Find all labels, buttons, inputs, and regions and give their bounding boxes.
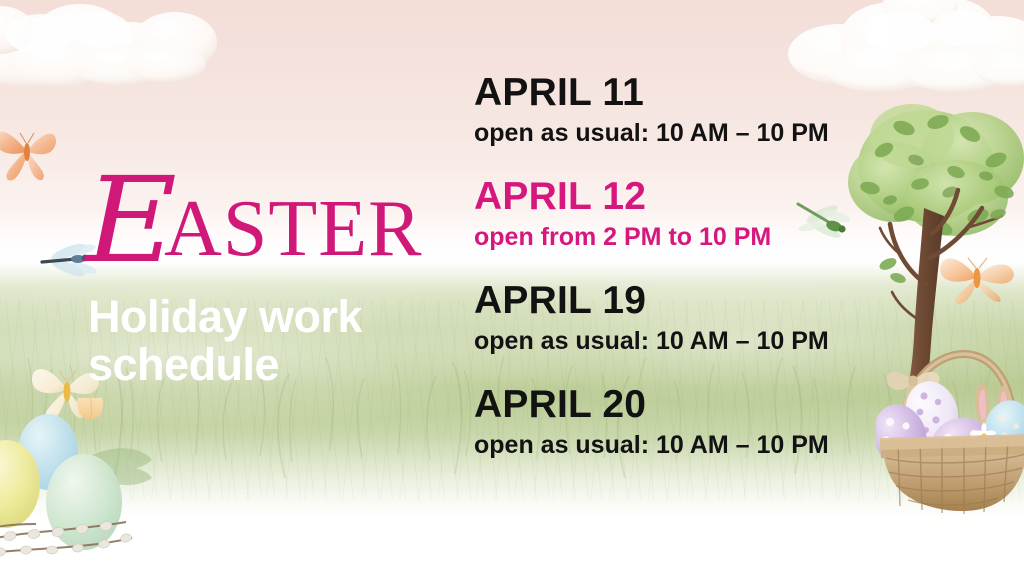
schedule-hours: open from 2 PM to 10 PM: [474, 221, 904, 255]
schedule-item-april-12: APRIL 12 open from 2 PM to 10 PM: [474, 176, 904, 255]
easter-headline: EASTER: [88, 168, 438, 269]
headline-block: EASTER Holiday work schedule: [88, 168, 438, 389]
schedule-list: APRIL 11 open as usual: 10 AM – 10 PM AP…: [474, 72, 904, 462]
schedule-date: APRIL 11: [474, 72, 904, 114]
subtitle-line-1: Holiday work: [88, 293, 438, 341]
easter-headline-rest: ASTER: [164, 189, 422, 269]
easter-schedule-banner: EASTER Holiday work schedule APRIL 11 op…: [0, 0, 1024, 576]
schedule-hours: open as usual: 10 AM – 10 PM: [474, 117, 904, 151]
subtitle-line-2: schedule: [88, 341, 438, 389]
schedule-hours: open as usual: 10 AM – 10 PM: [474, 325, 904, 359]
subtitle-block: Holiday work schedule: [88, 293, 438, 389]
schedule-date: APRIL 19: [474, 280, 904, 322]
schedule-date: APRIL 20: [474, 384, 904, 426]
bottom-fade: [0, 486, 1024, 576]
easter-initial-letter: E: [86, 174, 171, 266]
schedule-hours: open as usual: 10 AM – 10 PM: [474, 429, 904, 463]
schedule-item-april-19: APRIL 19 open as usual: 10 AM – 10 PM: [474, 280, 904, 359]
cloud-top-left-icon: [0, 0, 230, 110]
schedule-item-april-11: APRIL 11 open as usual: 10 AM – 10 PM: [474, 72, 904, 151]
schedule-item-april-20: APRIL 20 open as usual: 10 AM – 10 PM: [474, 384, 904, 463]
schedule-date: APRIL 12: [474, 176, 904, 218]
